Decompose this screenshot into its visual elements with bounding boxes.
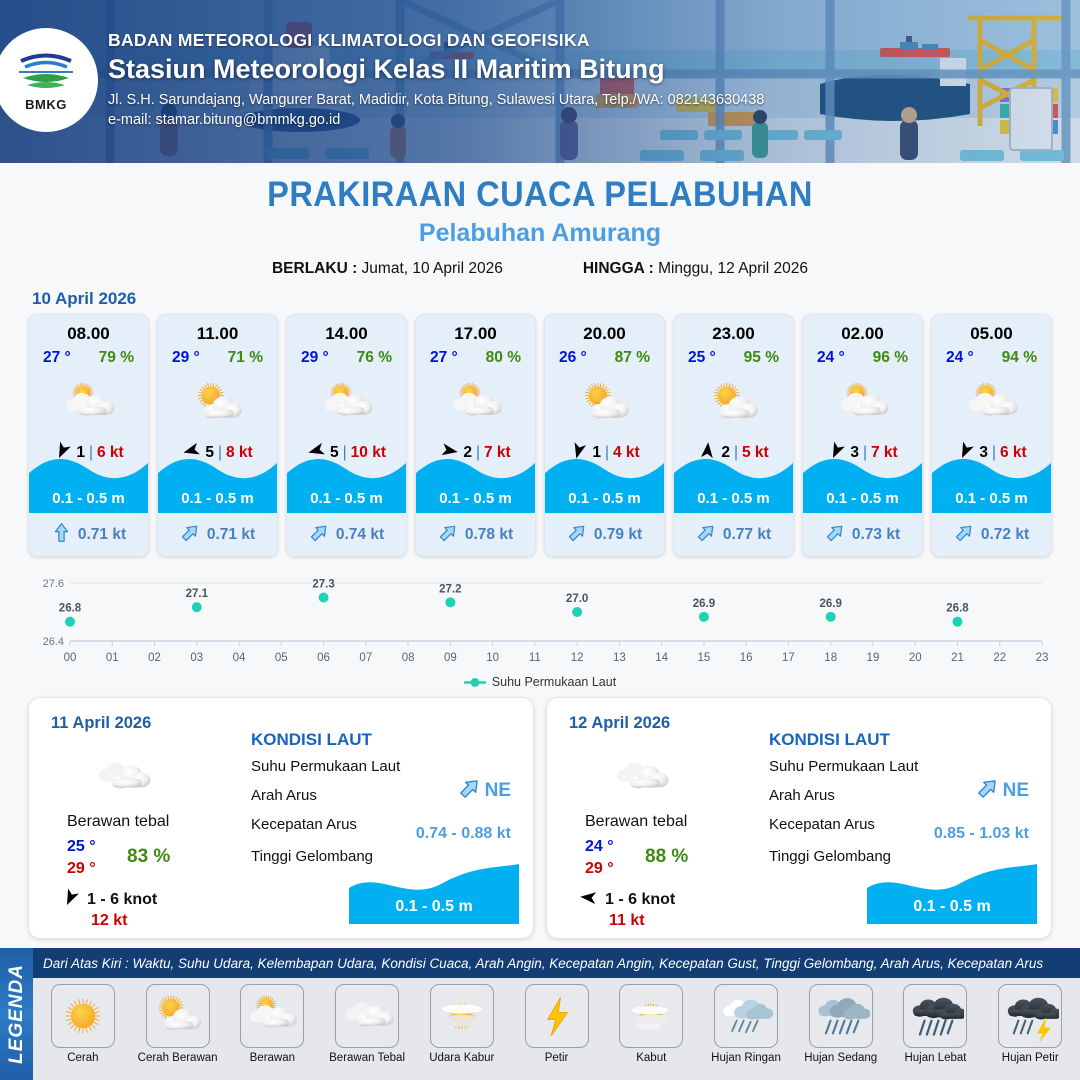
weather-cerah-berawan-icon [146,984,210,1048]
svg-text:26.4: 26.4 [43,636,64,648]
summary-gust: 12 kt [91,912,127,930]
summary-wind: 1 - 6 knot [61,888,157,912]
card-temp-humidity: 29 ° 71 % [158,349,277,367]
card-humidity: 96 % [873,349,908,367]
current-speed: 0.74 kt [336,526,384,544]
wind-direction-arrow-icon [579,888,598,912]
weather-hujan-sedang-icon [809,984,873,1048]
card-time: 05.00 [970,324,1013,344]
forecast-card: 08.00 27 ° 79 % 1 | [28,314,149,557]
summary-temp-min: 25 ° [67,838,96,856]
current-direction-arrow-icon [954,522,975,548]
card-temperature: 24 ° [946,349,974,367]
svg-text:20: 20 [909,652,922,664]
card-current: 0.74 kt [287,522,406,548]
card-temperature: 27 ° [43,349,71,367]
daily-summary-row: 11 April 2026 Berawan tebal 25 ° 29 ° 83… [0,697,1080,939]
bmkg-emblem-icon [15,48,77,96]
legend-item: Cerah [37,984,129,1064]
forecast-card: 11.00 29 ° 71 % 5 | 8 kt [157,314,278,557]
legend-item-label: Cerah [67,1052,98,1064]
legend-item-label: Udara Kabur [429,1052,494,1064]
weather-berawan-icon [833,373,893,435]
card-temp-humidity: 26 ° 87 % [545,349,664,367]
summary-temp-min: 24 ° [585,838,614,856]
legend-item-label: Hujan Petir [1002,1052,1059,1064]
summary-wind: 1 - 6 knot [579,888,675,912]
card-temperature: 24 ° [817,349,845,367]
svg-text:08: 08 [402,652,415,664]
forecast-card: 05.00 24 ° 94 % 3 | [931,314,1052,557]
svg-text:26.8: 26.8 [59,603,82,615]
weather-berawan-icon [446,373,506,435]
card-humidity: 71 % [228,349,263,367]
card-humidity: 94 % [1002,349,1037,367]
label-current-direction: Arah Arus [251,787,317,804]
legend-side-title: LEGENDA [0,948,33,1080]
svg-text:19: 19 [867,652,880,664]
station-name: Stasiun Meteorologi Kelas II Maritim Bit… [108,54,764,85]
weather-cerah-berawan-icon [704,373,764,435]
current-direction-label: NE [1003,780,1029,802]
card-time: 14.00 [325,324,368,344]
card-current: 0.77 kt [674,522,793,548]
legend-item-label: Berawan Tebal [329,1052,405,1064]
svg-text:11: 11 [529,652,541,664]
card-temp-humidity: 24 ° 94 % [932,349,1051,367]
legend-item-label: Petir [545,1052,569,1064]
current-speed: 0.72 kt [981,526,1029,544]
svg-text:12: 12 [571,652,584,664]
sea-condition-header: KONDISI LAUT [769,730,890,750]
current-speed: 0.73 kt [852,526,900,544]
weather-berawan-icon [240,984,304,1048]
svg-text:16: 16 [740,652,753,664]
card-temperature: 29 ° [301,349,329,367]
label-current-speed: Kecepatan Arus [769,816,875,833]
weather-berawan-icon [962,373,1022,435]
current-direction-arrow-icon [309,522,330,548]
wave-height: 0.1 - 0.5 m [674,490,793,507]
card-temp-humidity: 25 ° 95 % [674,349,793,367]
card-time: 11.00 [197,324,239,344]
summary-wave-height: 0.1 - 0.5 m [867,898,1037,916]
weather-hujan-ringan-icon [714,984,778,1048]
card-current: 0.73 kt [803,522,922,548]
legend-bar: LEGENDA Dari Atas Kiri : Waktu, Suhu Uda… [0,948,1080,1080]
forecast-card: 02.00 24 ° 96 % 3 | [802,314,923,557]
summary-current-speed: 0.85 - 1.03 kt [934,825,1029,843]
chart-legend: Suhu Permukaan Laut [0,675,1080,689]
forecast-card: 14.00 29 ° 76 % 5 | [286,314,407,557]
wind-direction-arrow-icon [61,888,80,912]
station-address: Jl. S.H. Sarundajang, Wangurer Barat, Ma… [108,92,764,108]
page-title: PRAKIRAAN CUACA PELABUHAN [38,175,1042,215]
weather-berawan-tebal-icon [91,746,153,813]
svg-text:00: 00 [64,652,77,664]
svg-text:27.1: 27.1 [186,588,209,600]
legend-item: Berawan Tebal [321,984,413,1064]
summary-wind-range: 1 - 6 knot [605,891,675,909]
summary-gust: 11 kt [609,912,645,930]
summary-temp-max: 29 ° [585,860,614,878]
weather-udara-kabur-icon [430,984,494,1048]
card-current: 0.72 kt [932,522,1051,548]
current-speed: 0.79 kt [594,526,642,544]
valid-until-label: HINGGA : [583,260,654,277]
card-time: 20.00 [583,324,626,344]
legend-item: Cerah Berawan [132,984,224,1064]
valid-until: HINGGA : Minggu, 12 April 2026 [583,260,808,278]
weather-cerah-icon [51,984,115,1048]
current-direction-arrow-icon [976,776,1000,806]
current-direction-arrow-icon [825,522,846,548]
current-speed: 0.71 kt [207,526,255,544]
svg-text:27.6: 27.6 [43,578,64,590]
svg-text:10: 10 [486,652,499,664]
svg-text:06: 06 [317,652,330,664]
wave-height: 0.1 - 0.5 m [932,490,1051,507]
title-block: PRAKIRAAN CUACA PELABUHAN Pelabuhan Amur… [0,175,1080,278]
weather-berawan-tebal-icon [335,984,399,1048]
card-current: 0.78 kt [416,522,535,548]
svg-text:18: 18 [824,652,837,664]
weather-hujan-lebat-icon [903,984,967,1048]
svg-text:03: 03 [190,652,203,664]
current-speed: 0.71 kt [78,526,126,544]
current-direction-arrow-icon [458,776,482,806]
card-humidity: 76 % [357,349,392,367]
svg-text:14: 14 [655,652,668,664]
weather-berawan-icon [59,373,119,435]
legend-item-row: Cerah Cerah Berawan [33,978,1080,1080]
card-current: 0.71 kt [29,522,148,548]
current-speed: 0.78 kt [465,526,513,544]
station-email: e-mail: stamar.bitung@bmmkg.go.id [108,112,764,128]
legend-item: Hujan Sedang [795,984,887,1064]
forecast-card: 17.00 27 ° 80 % 2 | [415,314,536,557]
summary-temp-max: 29 ° [67,860,96,878]
wave-height: 0.1 - 0.5 m [416,490,535,507]
card-temp-humidity: 27 ° 79 % [29,349,148,367]
label-current-speed: Kecepatan Arus [251,816,357,833]
port-name: Pelabuhan Amurang [0,219,1080,248]
legend-item: Udara Kabur [416,984,508,1064]
card-temp-humidity: 24 ° 96 % [803,349,922,367]
svg-text:26.8: 26.8 [946,603,969,615]
svg-text:13: 13 [613,652,626,664]
wave-height: 0.1 - 0.5 m [545,490,664,507]
current-direction-arrow-icon [180,522,201,548]
daily-summary-panel: 11 April 2026 Berawan tebal 25 ° 29 ° 83… [28,697,534,939]
valid-from-label: BERLAKU : [272,260,357,277]
chart-legend-label: Suhu Permukaan Laut [492,675,616,689]
legend-item-label: Berawan [250,1052,295,1064]
legend-item-label: Hujan Sedang [804,1052,877,1064]
card-time: 17.00 [454,324,497,344]
valid-from: BERLAKU : Jumat, 10 April 2026 [272,260,503,278]
valid-from-value: Jumat, 10 April 2026 [362,260,503,277]
svg-text:04: 04 [233,652,246,664]
svg-text:23: 23 [1036,652,1049,664]
summary-date: 11 April 2026 [51,714,151,733]
weather-cerah-berawan-icon [575,373,635,435]
card-humidity: 79 % [99,349,134,367]
card-temp-humidity: 29 ° 76 % [287,349,406,367]
wave-height: 0.1 - 0.5 m [158,490,277,507]
summary-current-speed: 0.74 - 0.88 kt [416,825,511,843]
summary-condition: Berawan tebal [67,813,169,831]
card-humidity: 87 % [615,349,650,367]
current-direction-arrow-icon [696,522,717,548]
weather-kabut-icon [619,984,683,1048]
summary-current-direction: NE [976,776,1029,806]
legend-body: Dari Atas Kiri : Waktu, Suhu Udara, Kele… [33,948,1080,1080]
weather-berawan-icon [317,373,377,435]
svg-text:27.2: 27.2 [439,583,461,595]
current-direction-label: NE [485,780,511,802]
svg-text:27.3: 27.3 [312,579,334,591]
summary-humidity: 88 % [645,846,688,868]
weather-cerah-berawan-icon [188,373,248,435]
legend-marker-icon [464,677,486,688]
svg-text:17: 17 [782,652,795,664]
card-current: 0.71 kt [158,522,277,548]
wave-height: 0.1 - 0.5 m [287,490,406,507]
daily-summary-panel: 12 April 2026 Berawan tebal 24 ° 29 ° 88… [546,697,1052,939]
forecast-card-row: 08.00 27 ° 79 % 1 | [0,314,1080,557]
card-time: 23.00 [712,324,755,344]
valid-until-value: Minggu, 12 April 2026 [658,260,808,277]
svg-text:27.0: 27.0 [566,593,588,605]
legend-item: Hujan Ringan [700,984,792,1064]
logo-text: BMKG [25,97,67,112]
legend-note: Dari Atas Kiri : Waktu, Suhu Udara, Kele… [33,948,1080,978]
card-temperature: 29 ° [172,349,200,367]
svg-text:26.9: 26.9 [693,598,715,610]
sst-chart-svg: 27.626.400010203040506070809101112131415… [28,571,1052,671]
validity-row: BERLAKU : Jumat, 10 April 2026 HINGGA : … [0,260,1080,278]
svg-text:01: 01 [106,652,119,664]
legend-item: Hujan Petir [984,984,1076,1064]
weather-berawan-tebal-icon [609,746,671,813]
header-text-block: BADAN METEOROLOGI KLIMATOLOGI DAN GEOFIS… [108,30,764,128]
label-current-direction: Arah Arus [769,787,835,804]
summary-date: 12 April 2026 [569,714,670,733]
forecast-date-label: 10 April 2026 [32,289,1080,309]
summary-current-direction: NE [458,776,511,806]
current-speed: 0.77 kt [723,526,771,544]
legend-item: Petir [511,984,603,1064]
svg-text:09: 09 [444,652,457,664]
label-sea-surface-temp: Suhu Permukaan Laut [769,758,918,775]
weather-hujan-petir-icon [998,984,1062,1048]
current-direction-arrow-icon [51,522,72,548]
forecast-card: 20.00 26 ° 87 % 1 | 4 kt [544,314,665,557]
svg-text:02: 02 [148,652,161,664]
weather-petir-icon [525,984,589,1048]
wave-height: 0.1 - 0.5 m [803,490,922,507]
card-temperature: 27 ° [430,349,458,367]
svg-text:15: 15 [698,652,711,664]
current-direction-arrow-icon [438,522,459,548]
legend-item-label: Kabut [636,1052,666,1064]
legend-item: Kabut [605,984,697,1064]
page-header: BMKG BADAN METEOROLOGI KLIMATOLOGI DAN G… [0,0,1080,163]
summary-condition: Berawan tebal [585,813,687,831]
sea-condition-header: KONDISI LAUT [251,730,372,750]
svg-text:22: 22 [993,652,1006,664]
card-temperature: 25 ° [688,349,716,367]
forecast-card: 23.00 25 ° 95 % 2 | 5 kt [673,314,794,557]
card-humidity: 95 % [744,349,779,367]
agency-name: BADAN METEOROLOGI KLIMATOLOGI DAN GEOFIS… [108,30,764,51]
svg-text:05: 05 [275,652,288,664]
sst-chart: 27.626.400010203040506070809101112131415… [28,571,1052,671]
legend-item: Hujan Lebat [890,984,982,1064]
wave-height: 0.1 - 0.5 m [29,490,148,507]
card-current: 0.79 kt [545,522,664,548]
card-time: 02.00 [841,324,884,344]
summary-humidity: 83 % [127,846,170,868]
summary-wind-range: 1 - 6 knot [87,891,157,909]
legend-item: Berawan [226,984,318,1064]
current-direction-arrow-icon [567,522,588,548]
label-sea-surface-temp: Suhu Permukaan Laut [251,758,400,775]
legend-side-text: LEGENDA [6,964,28,1064]
svg-text:21: 21 [951,652,964,664]
svg-text:26.9: 26.9 [820,598,842,610]
legend-item-label: Hujan Lebat [904,1052,966,1064]
legend-item-label: Cerah Berawan [138,1052,218,1064]
svg-text:07: 07 [359,652,372,664]
card-temp-humidity: 27 ° 80 % [416,349,535,367]
legend-item-label: Hujan Ringan [711,1052,781,1064]
summary-wave-height: 0.1 - 0.5 m [349,898,519,916]
card-humidity: 80 % [486,349,521,367]
card-temperature: 26 ° [559,349,587,367]
card-time: 08.00 [67,324,110,344]
